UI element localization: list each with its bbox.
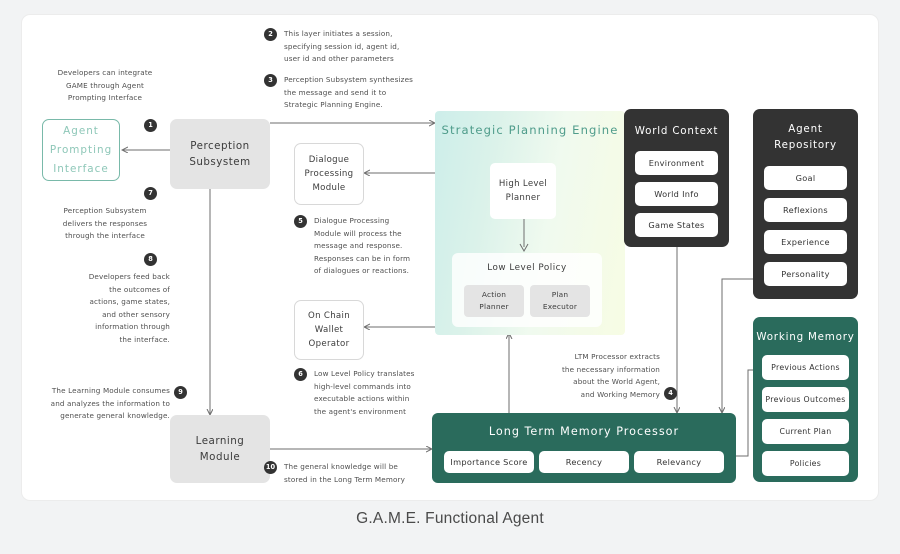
panel-working-memory: Working Memory Previous Actions Previous… <box>753 317 858 482</box>
low-level-policy-title: Low Level Policy <box>452 263 602 273</box>
figure-caption: G.A.M.E. Functional Agent <box>0 510 900 528</box>
panel-agent-repository: Agent Repository Goal Reflexions Experie… <box>753 109 858 299</box>
note-2-badge: 2 <box>264 28 277 41</box>
chip-previous-actions[interactable]: Previous Actions <box>762 355 849 380</box>
chip-experience[interactable]: Experience <box>764 230 847 254</box>
panel-world-context: World Context Environment World Info Gam… <box>624 109 729 247</box>
node-agent-prompting-interface[interactable]: Agent Prompting Interface <box>42 119 120 181</box>
note-3-text: Perception Subsystem synthesizes the mes… <box>284 74 444 112</box>
node-high-level-planner[interactable]: High Level Planner <box>490 163 556 219</box>
note-5-badge: 5 <box>294 215 307 228</box>
chip-environment[interactable]: Environment <box>635 151 718 175</box>
note-4-badge: 4 <box>664 387 677 400</box>
node-plan-executor[interactable]: Plan Executor <box>530 285 590 317</box>
note-1-badge: 1 <box>144 119 157 132</box>
note-5-text: Dialogue Processing Module will process … <box>314 215 444 278</box>
note-7-badge: 7 <box>144 187 157 200</box>
chip-relevancy[interactable]: Relevancy <box>634 451 724 473</box>
chip-previous-outcomes[interactable]: Previous Outcomes <box>762 387 849 412</box>
note-4-text: LTM Processor extracts the necessary inf… <box>520 351 660 401</box>
note-3-badge: 3 <box>264 74 277 87</box>
note-7-text: Perception Subsystem delivers the respon… <box>40 205 170 243</box>
note-6-text: Low Level Policy translates high-level c… <box>314 368 444 418</box>
ltm-processor-title: Long Term Memory Processor <box>432 425 736 438</box>
note-2-text: This layer initiates a session, specifyi… <box>284 28 434 66</box>
diagram-canvas: Developers can integrate GAME through Ag… <box>22 15 878 500</box>
node-learning-module[interactable]: Learning Module <box>170 415 270 483</box>
chip-personality[interactable]: Personality <box>764 262 847 286</box>
note-8-badge: 8 <box>144 253 157 266</box>
chip-importance-score[interactable]: Importance Score <box>444 451 534 473</box>
note-6-badge: 6 <box>294 368 307 381</box>
chip-recency[interactable]: Recency <box>539 451 629 473</box>
note-9-badge: 9 <box>174 386 187 399</box>
node-on-chain-wallet-operator[interactable]: On Chain Wallet Operator <box>294 300 364 360</box>
note-9-text: The Learning Module consumes and analyze… <box>30 385 170 423</box>
note-10-text: The general knowledge will be stored in … <box>284 461 434 486</box>
strategic-planning-engine-title: Strategic Planning Engine <box>435 123 625 137</box>
panel-long-term-memory-processor: Long Term Memory Processor Importance Sc… <box>432 413 736 483</box>
node-perception-subsystem[interactable]: Perception Subsystem <box>170 119 270 189</box>
chip-policies[interactable]: Policies <box>762 451 849 476</box>
panel-strategic-planning-engine: Strategic Planning Engine High Level Pla… <box>435 111 625 335</box>
hlp-to-llp-arrow <box>515 219 533 255</box>
agent-repository-title: Agent Repository <box>753 121 858 153</box>
note-1-text: Developers can integrate GAME through Ag… <box>40 67 170 105</box>
chip-game-states[interactable]: Game States <box>635 213 718 237</box>
working-memory-title: Working Memory <box>753 329 858 345</box>
note-8-text: Developers feed back the outcomes of act… <box>40 271 170 347</box>
chip-current-plan[interactable]: Current Plan <box>762 419 849 444</box>
node-dialogue-processing-module[interactable]: Dialogue Processing Module <box>294 143 364 205</box>
chip-world-info[interactable]: World Info <box>635 182 718 206</box>
chip-reflexions[interactable]: Reflexions <box>764 198 847 222</box>
chip-goal[interactable]: Goal <box>764 166 847 190</box>
group-low-level-policy: Low Level Policy Action Planner Plan Exe… <box>452 253 602 327</box>
world-context-title: World Context <box>624 123 729 139</box>
note-10-badge: 10 <box>264 461 277 474</box>
node-action-planner[interactable]: Action Planner <box>464 285 524 317</box>
